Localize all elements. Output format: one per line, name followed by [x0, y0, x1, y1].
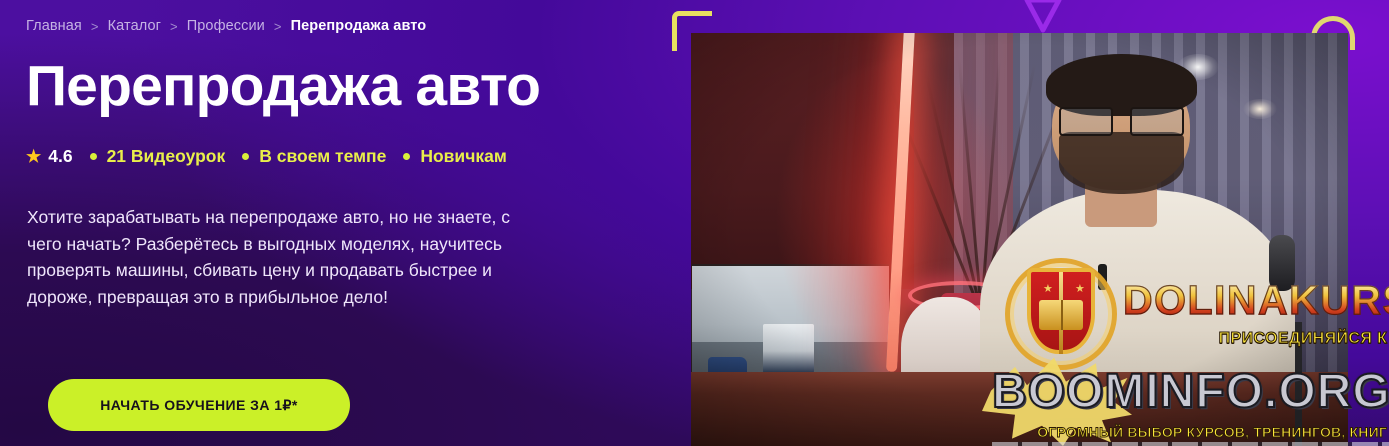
- hero-left-column: Главная > Каталог > Профессии > Перепрод…: [26, 0, 666, 446]
- course-video-thumbnail[interactable]: [691, 33, 1348, 446]
- bullet-icon: [242, 153, 249, 160]
- meta-item-lessons: 21 Видеоурок: [107, 146, 226, 167]
- breadcrumb-separator-icon: >: [91, 19, 99, 34]
- breadcrumb-item-professions[interactable]: Профессии: [187, 18, 265, 34]
- breadcrumb-item-current: Перепродажа авто: [291, 18, 427, 34]
- meta-item-pace: В своем темпе: [259, 146, 386, 167]
- star-icon: ★: [26, 148, 41, 165]
- triangle-outline-icon: [1022, 0, 1064, 36]
- meta-item-level: Новичкам: [420, 146, 506, 167]
- video-vignette: [691, 33, 1348, 446]
- start-course-button[interactable]: НАЧАТЬ ОБУЧЕНИЕ ЗА 1₽*: [48, 379, 350, 431]
- rating-value: 4.6: [48, 146, 72, 167]
- breadcrumb-separator-icon: >: [274, 19, 282, 34]
- bullet-icon: [90, 153, 97, 160]
- breadcrumb-separator-icon: >: [170, 19, 178, 34]
- hero-page: Главная > Каталог > Профессии > Перепрод…: [0, 0, 1389, 446]
- breadcrumb-item-catalog[interactable]: Каталог: [108, 18, 161, 34]
- breadcrumb: Главная > Каталог > Профессии > Перепрод…: [26, 18, 426, 34]
- breadcrumb-item-home[interactable]: Главная: [26, 18, 82, 34]
- page-title: Перепродажа авто: [26, 57, 540, 116]
- course-description: Хотите зарабатывать на перепродаже авто,…: [27, 204, 547, 310]
- bullet-icon: [403, 153, 410, 160]
- course-meta-row: ★ 4.6 21 Видеоурок В своем темпе Новичка…: [26, 146, 507, 167]
